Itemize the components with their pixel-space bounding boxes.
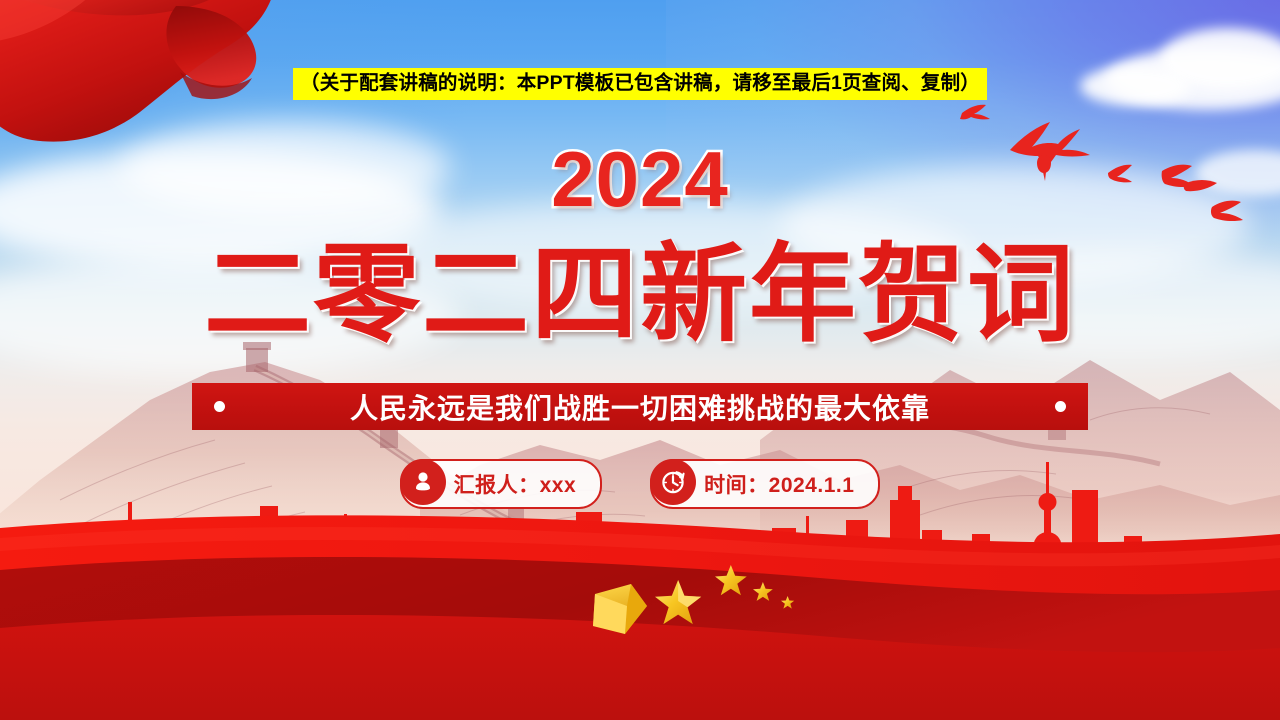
year-heading: 2024	[0, 140, 1280, 218]
bullet-dot-left-icon	[214, 401, 225, 412]
gold-stars-icon	[585, 562, 815, 642]
star-5	[781, 596, 794, 609]
star-4	[753, 582, 773, 601]
bullet-dot-right-icon	[1055, 401, 1066, 412]
page-title: 二零二四新年贺词	[0, 238, 1280, 351]
star-3	[715, 565, 747, 595]
subtitle-bar: 人民永远是我们战胜一切困难挑战的最大依靠	[192, 383, 1088, 430]
star-2	[655, 580, 701, 624]
presentation-slide: （关于配套讲稿的说明：本PPT模板已包含讲稿，请移至最后1页查阅、复制） 202…	[0, 0, 1280, 720]
subtitle-text: 人民永远是我们战胜一切困难挑战的最大依靠	[350, 387, 930, 427]
star-large	[593, 584, 647, 634]
note-banner: （关于配套讲稿的说明：本PPT模板已包含讲稿，请移至最后1页查阅、复制）	[293, 68, 987, 100]
